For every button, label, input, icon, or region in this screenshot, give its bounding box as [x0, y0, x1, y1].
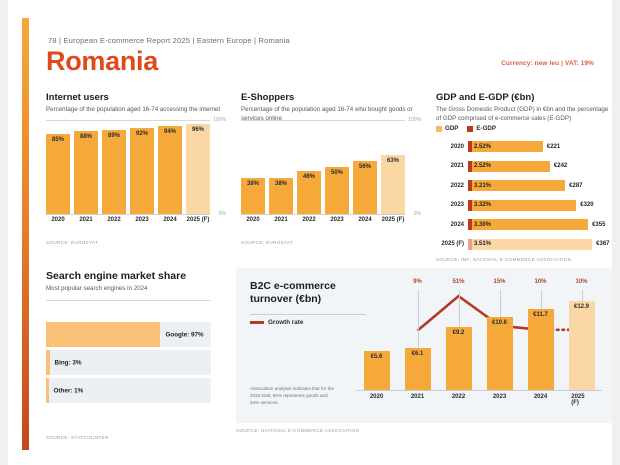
bar-column: 92% — [130, 128, 154, 214]
bar: 85% — [46, 134, 70, 214]
bar-value-label: €5.6 — [364, 354, 390, 360]
gdp-row: 20223.21%€287 — [436, 176, 612, 196]
bar: €6.1 — [405, 348, 431, 390]
x-axis — [241, 214, 405, 215]
bar-column: 38% — [241, 178, 265, 214]
bar-value-label: 96% — [186, 127, 210, 133]
search-engine-label: Bing: 3% — [55, 359, 82, 366]
eshoppers-title: E-Shoppers — [241, 92, 421, 103]
egdp-percent-label: 3.21% — [474, 183, 491, 189]
x-axis-label: 2022 — [452, 394, 465, 400]
bar: 92% — [130, 128, 154, 214]
gdp-title: GDP and E-GDP (€bn) — [436, 92, 612, 103]
bar-value-label: 63% — [381, 158, 405, 164]
bar: 63% — [381, 155, 405, 214]
growth-rate-line — [356, 276, 602, 408]
bar-column: 63% — [381, 155, 405, 214]
gdp-year-label: 2023 — [436, 202, 468, 208]
gdp-year-label: 2021 — [436, 163, 468, 169]
gdp-value-label: €242 — [554, 163, 567, 169]
growth-rate-stem — [500, 290, 501, 317]
accent-edge-bar — [22, 18, 29, 450]
bar-value-label: 92% — [130, 131, 154, 137]
bar: 46% — [297, 171, 321, 214]
legend-egdp: E-GDP — [467, 125, 496, 132]
search-engine-subtitle: Most popular search engines in 2024 — [46, 285, 226, 294]
internet-users-source: SOURCE: EUROSTAT — [46, 240, 98, 245]
legend-egdp-label: E-GDP — [476, 125, 496, 132]
bar-value-label: €6.1 — [405, 351, 431, 357]
gdp-year-label: 2022 — [436, 183, 468, 189]
search-engine-bar — [46, 350, 50, 375]
x-axis-label: 2025 (F) — [571, 394, 592, 406]
x-axis-label: 2024 — [534, 394, 547, 400]
egdp-percent-label: 3.51% — [474, 241, 491, 247]
gdp-year-label: 2020 — [436, 144, 468, 150]
b2c-footnote: Association analysis indicates that for … — [250, 386, 338, 407]
egdp-bar — [468, 219, 472, 230]
egdp-percent-label: 3.32% — [474, 202, 491, 208]
growth-rate-stem — [582, 290, 583, 301]
bar: 94% — [158, 126, 182, 214]
gdp-value-label: €320 — [580, 202, 593, 208]
egdp-percent-label: 2.52% — [474, 163, 491, 169]
egdp-swatch-icon — [467, 126, 473, 132]
growth-rate-stem — [459, 290, 460, 327]
eshoppers-chart: 100% 0% 38%38%46%50%56%63% 2020202120222… — [241, 120, 421, 230]
x-axis-label: 2020 — [46, 217, 70, 223]
b2c-divider — [250, 314, 366, 315]
bar-value-label: €11.7 — [528, 312, 554, 318]
bar-column: 96% — [186, 124, 210, 214]
bar-value-label: €12.9 — [569, 304, 595, 310]
bar-value-label: 46% — [297, 174, 321, 180]
bar-value-label: 56% — [353, 164, 377, 170]
bar-value-label: 38% — [241, 181, 265, 187]
panel-search-engine: Search engine market share Most popular … — [46, 270, 226, 294]
b2c-legend: Growth rate — [250, 319, 303, 326]
gridlabel-top: 100% — [213, 117, 226, 123]
bar: 50% — [325, 167, 349, 214]
bar: €9.2 — [446, 327, 472, 390]
x-axis — [46, 214, 210, 215]
x-axis-label: 2024 — [353, 217, 377, 223]
gdp-row: 20202.52%€221 — [436, 137, 612, 157]
bar-value-label: 94% — [158, 129, 182, 135]
b2c-x-axis — [356, 390, 602, 391]
gdp-value-label: €287 — [569, 183, 582, 189]
growth-rate-label: 15% — [493, 279, 505, 285]
egdp-percent-label: 2.52% — [474, 144, 491, 150]
gdp-value-label: €221 — [547, 144, 560, 150]
x-axis-label: 2023 — [325, 217, 349, 223]
x-axis-label: 2021 — [411, 394, 424, 400]
growth-rate-stem — [541, 290, 542, 309]
page-title: Romania — [46, 46, 158, 77]
growth-rate-line-icon — [250, 321, 264, 324]
bar-value-label: €10.6 — [487, 320, 513, 326]
gdp-year-label: 2025 (F) — [436, 241, 468, 247]
gdp-bar-track: 2.52%€242 — [468, 161, 612, 172]
bar: €10.6 — [487, 317, 513, 390]
bar-column: 89% — [102, 130, 126, 214]
growth-rate-stem — [418, 290, 419, 348]
currency-vat-note: Currency: new leu | VAT: 19% — [501, 60, 594, 67]
b2c-legend-label: Growth rate — [268, 319, 303, 326]
x-axis-label: 2023 — [493, 394, 506, 400]
bar-column: 38% — [269, 178, 293, 214]
egdp-bar — [468, 161, 472, 172]
internet-users-title: Internet users — [46, 92, 226, 103]
bar-column: 46% — [297, 171, 321, 214]
gdp-bar-track: 3.51%€367 — [468, 239, 612, 250]
x-axis-label: 2020 — [241, 217, 265, 223]
bar-column: 88% — [74, 131, 98, 214]
bar: €5.6 — [364, 351, 390, 390]
gdp-bar-track: 2.52%€221 — [468, 141, 612, 152]
search-engine-bar — [46, 322, 160, 347]
gridlabel-bottom: 0% — [414, 211, 421, 217]
bar-value-label: 88% — [74, 134, 98, 140]
internet-users-chart: 100% 0% 85%88%89%92%94%96% 2020202120222… — [46, 120, 226, 230]
b2c-chart: €5.620209%€6.1202151%€9.2202215%€10.6202… — [356, 276, 602, 408]
search-engine-label: Other: 1% — [54, 387, 84, 394]
x-axis-label: 2020 — [370, 394, 383, 400]
bar: 88% — [74, 131, 98, 214]
x-axis-label: 2022 — [102, 217, 126, 223]
b2c-source: SOURCE: NATIONAL E-COMMERCE ASSOCIATION — [236, 428, 360, 433]
bar: €11.7 — [528, 309, 554, 390]
bar-value-label: 50% — [325, 170, 349, 176]
legend-gdp: GDP — [436, 125, 458, 132]
search-engine-row: Bing: 3% — [46, 350, 211, 375]
gdp-row: 20212.52%€242 — [436, 157, 612, 177]
egdp-bar — [468, 141, 472, 152]
gdp-legend: GDP E-GDP — [436, 125, 496, 132]
x-axis-label: 2025 (F) — [186, 217, 210, 223]
eshoppers-source: SOURCE: EUROSTAT — [241, 240, 293, 245]
growth-rate-label: 51% — [452, 279, 464, 285]
gdp-swatch-icon — [436, 126, 442, 132]
growth-rate-label: 10% — [575, 279, 587, 285]
gdp-value-label: €367 — [596, 241, 609, 247]
bar-column: 85% — [46, 134, 70, 214]
gdp-source: SOURCE: IMF, NATIONAL E-COMMERCE ASSOCIA… — [436, 257, 571, 262]
gdp-year-label: 2024 — [436, 222, 468, 228]
bar: 96% — [186, 124, 210, 214]
bar-value-label: 85% — [46, 137, 70, 143]
search-engine-row: Other: 1% — [46, 378, 211, 403]
bar: 38% — [269, 178, 293, 214]
bar: 89% — [102, 130, 126, 214]
bar-column: 50% — [325, 167, 349, 214]
bar: 38% — [241, 178, 265, 214]
gdp-bar-track: 3.21%€287 — [468, 180, 612, 191]
bar: €12.9 — [569, 301, 595, 390]
x-axis-label: 2021 — [269, 217, 293, 223]
gdp-row: 2025 (F)3.51%€367 — [436, 235, 612, 255]
panel-eshoppers: E-Shoppers Percentage of the population … — [241, 92, 421, 124]
egdp-bar — [468, 239, 472, 250]
gdp-bar-track: 3.30%€355 — [468, 219, 612, 230]
egdp-bar — [468, 200, 472, 211]
bar-value-label: 89% — [102, 133, 126, 139]
legend-gdp-label: GDP — [445, 125, 458, 132]
gridlabel-top: 100% — [408, 117, 421, 123]
gdp-row: 20243.30%€355 — [436, 215, 612, 235]
report-page: 78 | European E-commerce Report 2025 | E… — [8, 0, 612, 465]
breadcrumb: 78 | European E-commerce Report 2025 | E… — [48, 36, 290, 45]
gdp-row: 20233.32%€320 — [436, 196, 612, 216]
internet-users-subtitle: Percentage of the population aged 16-74 … — [46, 106, 226, 115]
growth-rate-label: 9% — [413, 279, 422, 285]
bar-column: 56% — [353, 161, 377, 214]
growth-rate-label: 10% — [534, 279, 546, 285]
gdp-value-label: €355 — [592, 222, 605, 228]
x-axis-label: 2021 — [74, 217, 98, 223]
bar-column: 94% — [158, 126, 182, 214]
bar-value-label: 38% — [269, 181, 293, 187]
bar: 56% — [353, 161, 377, 214]
x-axis-label: 2022 — [297, 217, 321, 223]
x-axis-label: 2024 — [158, 217, 182, 223]
search-engine-title: Search engine market share — [46, 270, 226, 282]
search-engine-divider — [46, 300, 211, 301]
bar-value-label: €9.2 — [446, 330, 472, 336]
gridlabel-bottom: 0% — [219, 211, 226, 217]
egdp-percent-label: 3.30% — [474, 222, 491, 228]
x-axis-label: 2023 — [130, 217, 154, 223]
x-axis-label: 2025 (F) — [381, 217, 405, 223]
search-engine-source: SOURCE: STATCOUNTER — [46, 435, 109, 440]
gdp-bar-track: 3.32%€320 — [468, 200, 612, 211]
search-engine-row: Google: 97% — [46, 322, 211, 347]
search-engine-bar — [46, 378, 49, 403]
egdp-bar — [468, 180, 472, 191]
gdp-subtitle: The Gross Domestic Product (GDP) in €bn … — [436, 106, 612, 124]
panel-gdp: GDP and E-GDP (€bn) The Gross Domestic P… — [436, 92, 612, 124]
panel-b2c-turnover: B2C e-commerce turnover (€bn) Growth rat… — [236, 268, 612, 423]
panel-internet-users: Internet users Percentage of the populat… — [46, 92, 226, 115]
search-engine-label: Google: 97% — [165, 331, 203, 338]
